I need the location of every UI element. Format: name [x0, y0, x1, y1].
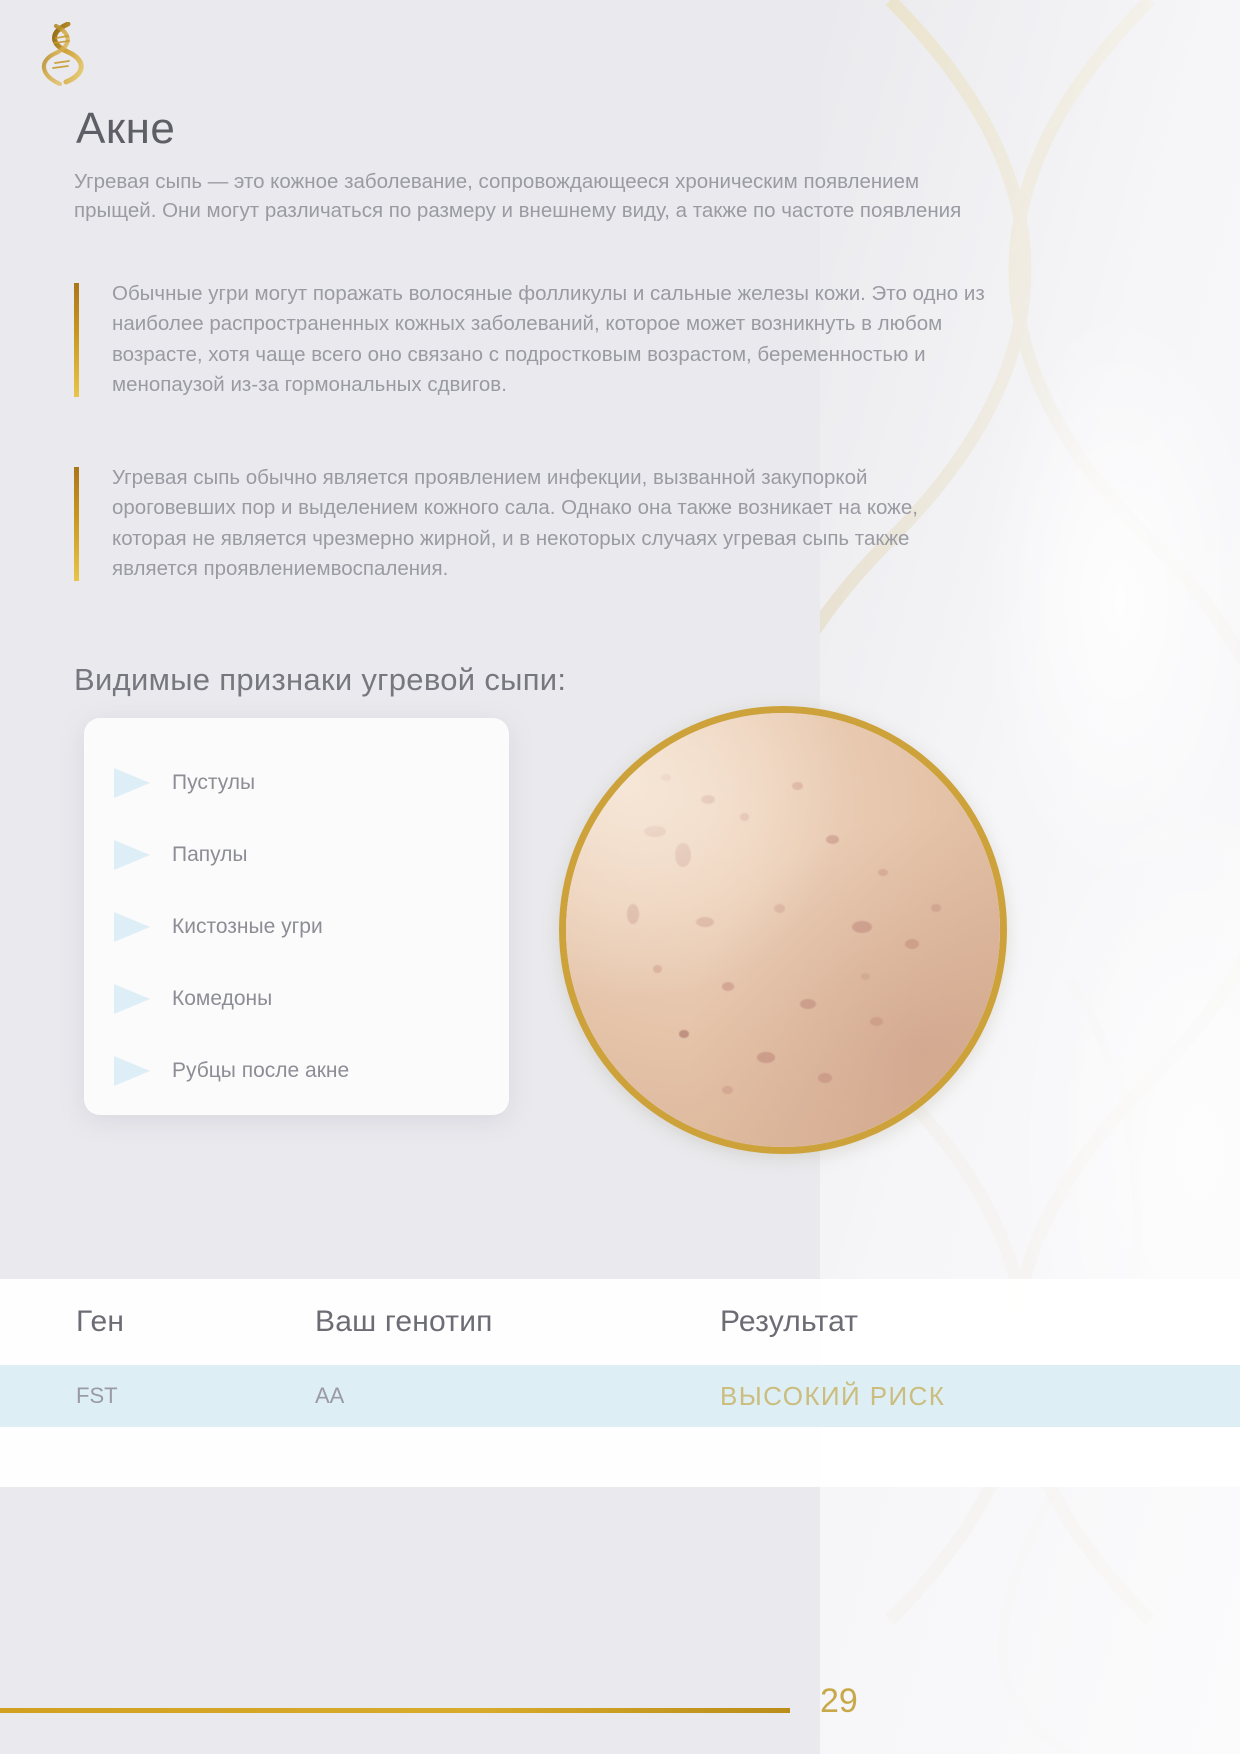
table-header-row: Ген Ваш генотип Результат [0, 1279, 1240, 1365]
triangle-right-icon [110, 1054, 154, 1088]
list-item: Рубцы после акне [84, 1035, 509, 1107]
highlight-paragraph-1: Обычные угри могут поражать волосяные фо… [74, 279, 992, 401]
triangle-right-icon [110, 838, 154, 872]
intro-paragraph: Угревая сыпь — это кожное заболевание, с… [74, 167, 964, 225]
symptoms-list: Пустулы Папулы Кистозные угри [84, 718, 509, 1107]
list-item: Кистозные угри [84, 891, 509, 963]
list-item: Комедоны [84, 963, 509, 1035]
column-header-result: Результат [720, 1305, 1240, 1339]
triangle-right-icon [110, 982, 154, 1016]
table-row: FST AA ВЫСОКИЙ РИСК [0, 1365, 1240, 1427]
dna-helix-logo [38, 22, 90, 86]
report-page: Акне Угревая сыпь — это кожное заболеван… [0, 0, 1240, 1754]
cell-gene: FST [0, 1383, 315, 1409]
list-item-label: Рубцы после акне [172, 1059, 349, 1083]
table-top-gap [0, 1203, 1240, 1279]
list-item-label: Пустулы [172, 771, 255, 795]
list-item: Папулы [84, 819, 509, 891]
column-header-gene: Ген [0, 1305, 315, 1339]
table-bottom-band [0, 1427, 1240, 1487]
highlight-paragraph-2: Угревая сыпь обычно является проявлением… [74, 463, 992, 585]
triangle-right-icon [110, 910, 154, 944]
column-header-genotype: Ваш генотип [315, 1305, 720, 1339]
acne-skin-photo [559, 706, 1007, 1154]
list-item: Пустулы [84, 747, 509, 819]
symptoms-card: Пустулы Папулы Кистозные угри [84, 718, 509, 1115]
list-item-label: Комедоны [172, 987, 272, 1011]
list-item-label: Кистозные угри [172, 915, 323, 939]
result-table: Ген Ваш генотип Результат FST AA ВЫСОКИЙ… [0, 1203, 1240, 1487]
cell-genotype: AA [315, 1383, 720, 1409]
footer-divider [0, 1708, 790, 1713]
list-item-label: Папулы [172, 843, 248, 867]
section-heading-visible-signs: Видимые признаки угревой сыпи: [74, 662, 566, 698]
triangle-right-icon [110, 766, 154, 800]
page-number: 29 [820, 1682, 858, 1721]
page-title: Акне [76, 105, 175, 153]
status-badge: ВЫСОКИЙ РИСК [720, 1381, 1240, 1412]
